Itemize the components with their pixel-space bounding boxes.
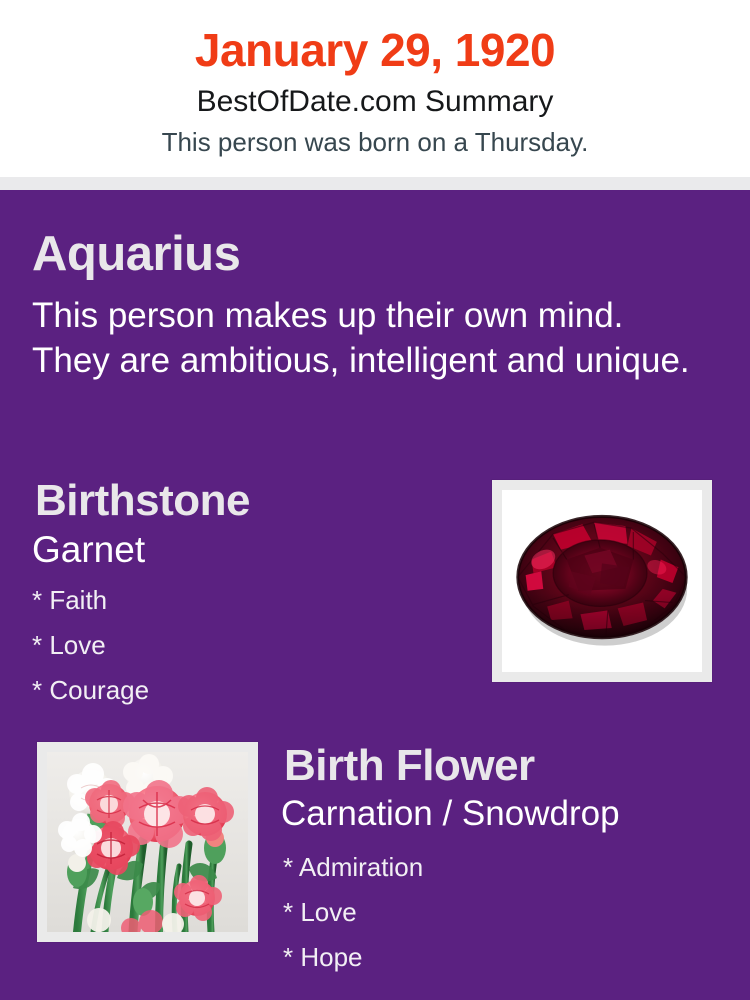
site-summary-label: BestOfDate.com Summary	[0, 84, 750, 120]
birthstone-heading: Birthstone	[35, 475, 250, 527]
list-item: * Admiration	[283, 845, 423, 890]
birthstone-image-frame	[492, 480, 712, 682]
header-divider	[0, 177, 750, 190]
birthstone-traits-list: * Faith * Love * Courage	[32, 578, 149, 713]
birth-flower-image	[47, 752, 248, 932]
list-item: * Love	[32, 623, 149, 668]
zodiac-sign-heading: Aquarius	[32, 225, 240, 283]
garnet-gemstone-icon	[508, 497, 696, 665]
page-title-date: January 29, 1920	[0, 24, 750, 76]
carnation-flowers-icon	[47, 752, 248, 932]
birth-flower-name: Carnation / Snowdrop	[281, 792, 620, 836]
birth-flower-traits-list: * Admiration * Love * Hope	[283, 845, 423, 980]
details-panel: Aquarius This person makes up their own …	[0, 190, 750, 1000]
page-header: January 29, 1920 BestOfDate.com Summary …	[0, 0, 750, 177]
birth-flower-image-frame	[37, 742, 258, 942]
list-item: * Courage	[32, 668, 149, 713]
list-item: * Love	[283, 890, 423, 935]
list-item: * Faith	[32, 578, 149, 623]
zodiac-description: This person makes up their own mind. The…	[32, 293, 692, 383]
birthstone-name: Garnet	[32, 528, 145, 572]
day-of-week-note: This person was born on a Thursday.	[0, 126, 750, 158]
date-summary-page: January 29, 1920 BestOfDate.com Summary …	[0, 0, 750, 1000]
birth-flower-heading: Birth Flower	[284, 740, 535, 792]
list-item: * Hope	[283, 935, 423, 980]
birthstone-image	[502, 490, 702, 672]
